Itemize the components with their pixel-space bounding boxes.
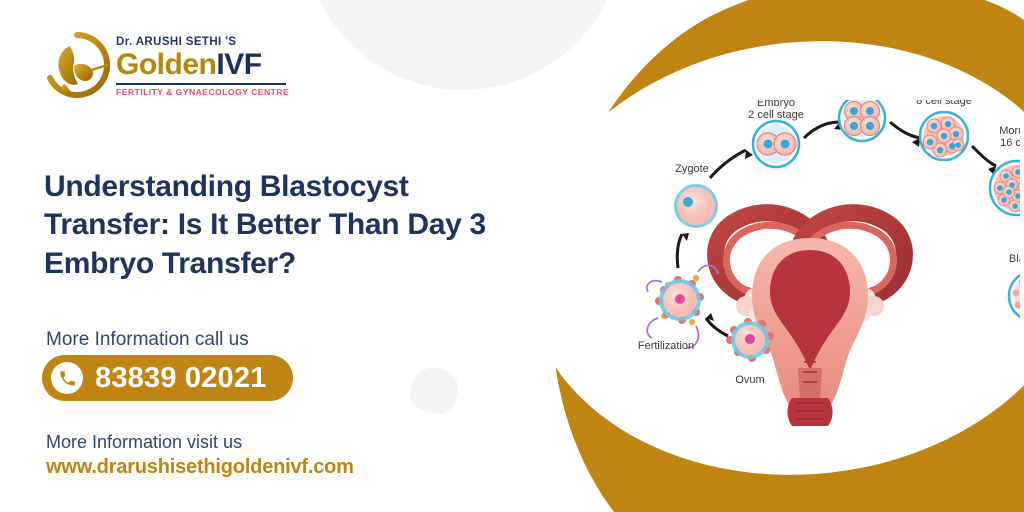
logo-doctor-name: Dr. ARUSHI SETHI 'S (116, 37, 289, 49)
arrow-8cell-to-morula (972, 146, 996, 166)
arrow-2cell-to-4cell (804, 122, 840, 138)
golden-ivf-mother-emblem-icon (44, 32, 110, 102)
label-embryo-8cell-line2: 8 cell stage (916, 100, 972, 107)
logo-brand-ivf: IVF (216, 48, 261, 81)
arrow-zygote-to-2cell (710, 150, 746, 178)
logo-wordmark: Dr. ARUSHI SETHI 'S GoldenIVF FERTILITY … (116, 37, 289, 97)
zygote-cell (674, 184, 718, 228)
logo-divider (116, 83, 286, 85)
label-embryo-2cell-line1: Embryo (757, 100, 795, 109)
decorative-gray-blob (410, 368, 458, 414)
label-morula-line2: 16 cell (1000, 137, 1020, 149)
visit-us-label: More Information visit us (46, 432, 242, 453)
label-fertilization: Fertilization (638, 340, 694, 352)
embryo-development-illustration: Ovum Fertilization (600, 100, 1020, 430)
arrow-4cell-to-8cell (890, 122, 920, 138)
arrow-ovum-to-fertilization (706, 318, 728, 336)
uterus-illustration (716, 213, 905, 426)
logo-brand: GoldenIVF (116, 50, 289, 80)
page-title: Understanding Blastocyst Transfer: Is It… (44, 168, 514, 283)
arrow-fertilization-to-zygote (677, 234, 682, 268)
phone-icon (51, 362, 83, 394)
embryo-8-cell (920, 112, 968, 160)
blog-banner: Ovum Fertilization (0, 0, 1024, 512)
blastocyst-cell (1009, 271, 1020, 321)
logo-brand-golden: Golden (116, 48, 216, 81)
fertilization-cell (647, 265, 718, 348)
label-zygote: Zygote (675, 163, 709, 175)
website-url[interactable]: www.drarushisethigoldenivf.com (46, 456, 354, 479)
logo-tagline: FERTILITY & GYNAECOLOGY CENTRE (116, 88, 289, 97)
embryo-4-cell (839, 100, 885, 141)
embryo-2-cell (753, 121, 799, 167)
site-logo[interactable]: Dr. ARUSHI SETHI 'S GoldenIVF FERTILITY … (44, 32, 289, 102)
label-blastocyst: Blastocyst (1009, 253, 1020, 265)
label-embryo-2cell-line2: 2 cell stage (748, 109, 804, 121)
label-morula-line1: Morula (999, 125, 1020, 137)
phone-cta-button[interactable]: 83839 02021 (42, 355, 293, 401)
call-us-label: More Information call us (46, 329, 249, 351)
phone-number: 83839 02021 (95, 362, 267, 395)
label-ovum: Ovum (735, 374, 764, 386)
